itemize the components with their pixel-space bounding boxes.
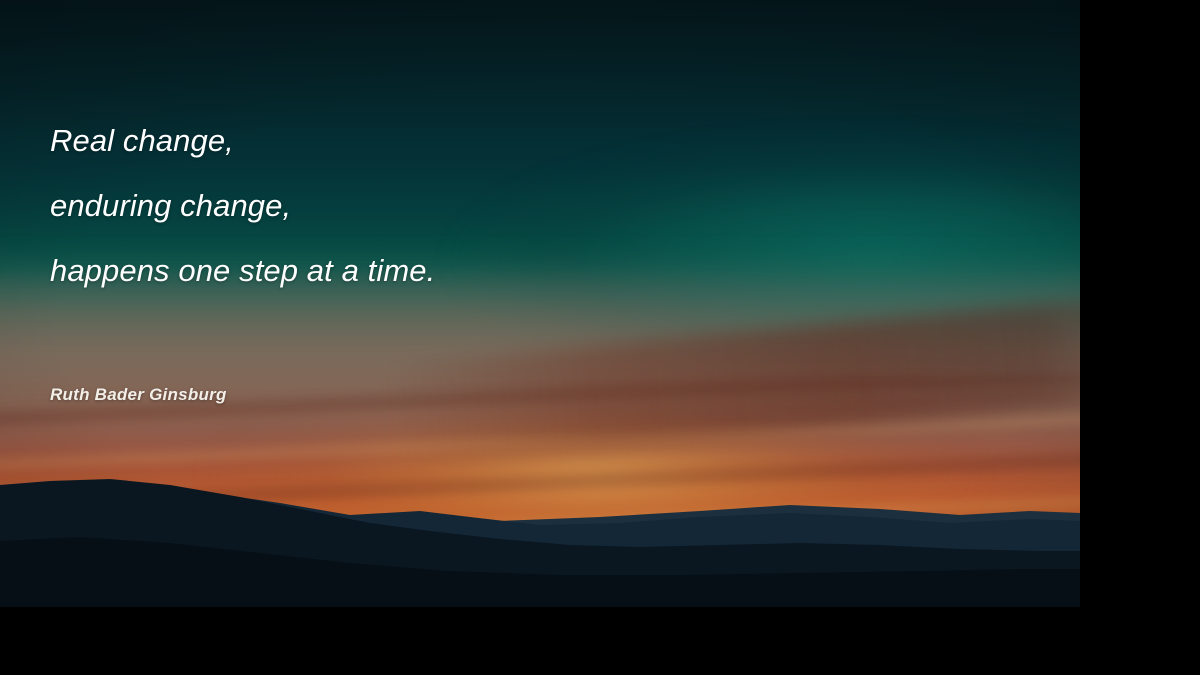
quote-line-2: enduring change, (50, 173, 810, 238)
quote-text-block: Real change, enduring change, happens on… (50, 108, 810, 303)
quote-line-3: happens one step at a time. (50, 238, 810, 303)
quote-slide: Real change, enduring change, happens on… (0, 0, 1200, 675)
quote-attribution: Ruth Bader Ginsburg (50, 385, 227, 405)
quote-line-1: Real change, (50, 108, 810, 173)
background-photo: Real change, enduring change, happens on… (0, 0, 1080, 607)
letterbox-bar-right (1080, 0, 1200, 675)
mountain-ridges (0, 467, 1080, 607)
letterbox-bar-bottom (0, 607, 1200, 675)
mountain-ridge-svg (0, 467, 1080, 607)
